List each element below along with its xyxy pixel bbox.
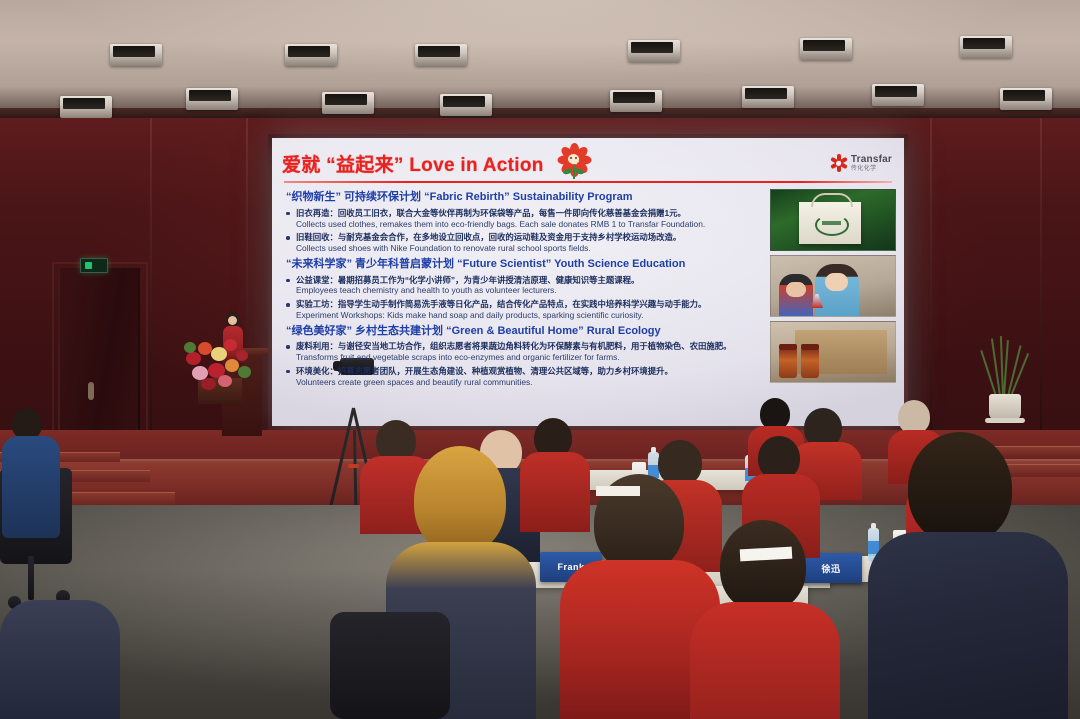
slide-title: 爱就 “益起来” Love in Action (282, 150, 544, 177)
bullet-item: 旧鞋回收：与耐克基金会合作，在多地设立回收点，回收的运动鞋及资金用于支持乡村学校… (282, 232, 762, 254)
bullet-en: Collects used shoes with Nike Foundation… (296, 243, 762, 254)
wall-seam (150, 118, 152, 448)
chair-base (28, 556, 34, 600)
slide-photo-column (770, 189, 894, 421)
ceiling-light (1000, 88, 1052, 110)
ceiling-light (628, 40, 680, 62)
title-divider (284, 181, 892, 183)
ceiling-light (186, 88, 238, 110)
bullet-en: Transforms fruit and vegetable scraps in… (296, 352, 762, 363)
bullet-en: Collects used clothes, remakes them into… (296, 219, 762, 230)
ceiling-light (800, 38, 852, 60)
door-handle-icon[interactable] (88, 382, 94, 400)
ceiling-light (285, 44, 337, 66)
bullet-item: 废料利用：与谢径安当地工坊合作，组织志愿者将果蔬边角料转化为环保酵素与有机肥料，… (282, 341, 762, 363)
photo-tote-bag (770, 189, 896, 251)
audience-member (868, 432, 1068, 719)
bullet-cn: 环境美化：招募志愿者团队，开展生态角建设、种植观赏植物、清理公共区域等，助力乡村… (296, 366, 762, 377)
bullet-cn: 旧衣再造：回收员工旧衣，联合大金等伙伴再制为环保袋等产品，每售一件即向传化慈善基… (296, 208, 762, 219)
section-heading: “绿色美好家” 乡村生态共建计划 “Green & Beautiful Home… (286, 325, 762, 339)
ceiling-light (60, 96, 112, 118)
wall-seam (930, 118, 932, 448)
bullet-item: 公益课堂：暑期招募员工作为“化学小讲师”，为青少年讲授清洁原理、健康知识等主题课… (282, 275, 762, 297)
slide-title-en: Love in Action (409, 155, 543, 176)
slide-title-cn: 爱就 “益起来” (282, 155, 404, 176)
bullet-cn: 旧鞋回收：与耐克基金会合作，在多地设立回收点，回收的运动鞋及资金用于支持乡村学校… (296, 232, 762, 243)
potted-plant (975, 336, 1033, 424)
smiling-flower-icon (554, 146, 594, 180)
bullet-cn: 实验工坊：指导学生动手制作简易洗手液等日化产品，结合传化产品特点，在实践中培养科… (296, 299, 762, 310)
bullet-item: 环境美化：招募志愿者团队，开展生态角建设、种植观赏植物、清理公共区域等，助力乡村… (282, 366, 762, 388)
slide-text-column: “织物新生” 可持续环保计划 “Fabric Rebirth” Sustaina… (282, 189, 762, 421)
transfar-mark-icon (831, 156, 846, 171)
office-chair[interactable] (330, 612, 450, 719)
section-bullets: 废料利用：与谢径安当地工坊合作，组织志愿者将果蔬边角料转化为环保酵素与有机肥料，… (282, 341, 762, 387)
ceiling-light (110, 44, 162, 66)
ceiling-light (440, 94, 492, 116)
bullet-en: Employees teach chemistry and health to … (296, 285, 762, 296)
exit-sign-icon (80, 258, 108, 273)
ceiling-light (960, 36, 1012, 58)
section-bullets: 公益课堂：暑期招募员工作为“化学小讲师”，为青少年讲授清洁原理、健康知识等主题课… (282, 275, 762, 321)
ceiling-light (872, 84, 924, 106)
wall-seam (1040, 118, 1042, 448)
conference-room-photo: 爱就 “益起来” Love in Action (0, 0, 1080, 719)
presentation-slide: 爱就 “益起来” Love in Action (272, 138, 904, 426)
bullet-en: Experiment Workshops: Kids make hand soa… (296, 310, 762, 321)
brand-name-cn: 传化化学 (851, 166, 892, 172)
brand-name-en: Transfar (851, 155, 892, 165)
transfar-logo: Transfar 传化化学 (831, 155, 894, 172)
bullet-item: 旧衣再造：回收员工旧衣，联合大金等伙伴再制为环保袋等产品，每售一件即向传化慈善基… (282, 208, 762, 230)
section-heading: “未来科学家” 青少年科普启蒙计划 “Future Scientist” You… (286, 258, 762, 272)
slide-body: “织物新生” 可持续环保计划 “Fabric Rebirth” Sustaina… (282, 189, 894, 421)
paper-document (596, 486, 640, 496)
ceiling-light (742, 86, 794, 108)
ceiling-light (610, 90, 662, 112)
bullet-cn: 公益课堂：暑期招募员工作为“化学小讲师”，为青少年讲授清洁原理、健康知识等主题课… (296, 275, 762, 286)
slide-header: 爱就 “益起来” Love in Action (282, 146, 894, 180)
bullet-cn: 废料利用：与谢径安当地工坊合作，组织志愿者将果蔬边角料转化为环保酵素与有机肥料，… (296, 341, 762, 352)
ceiling-light (322, 92, 374, 114)
side-door[interactable] (58, 268, 140, 436)
ceiling-light (415, 44, 467, 66)
floral-bouquet (182, 330, 258, 402)
bullet-item: 实验工坊：指导学生动手制作简易洗手液等日化产品，结合传化产品特点，在实践中培养科… (282, 299, 762, 321)
bullet-en: Volunteers create green spaces and beaut… (296, 377, 762, 388)
photo-children-experiment (770, 255, 896, 317)
section-bullets: 旧衣再造：回收员工旧衣，联合大金等伙伴再制为环保袋等产品，每售一件即向传化慈善基… (282, 208, 762, 254)
section-heading: “织物新生” 可持续环保计划 “Fabric Rebirth” Sustaina… (286, 191, 762, 205)
audience-member (0, 600, 120, 719)
photo-enzyme-jars (770, 321, 896, 383)
projection-screen: 爱就 “益起来” Love in Action (268, 134, 908, 430)
audience-member (2, 408, 62, 538)
